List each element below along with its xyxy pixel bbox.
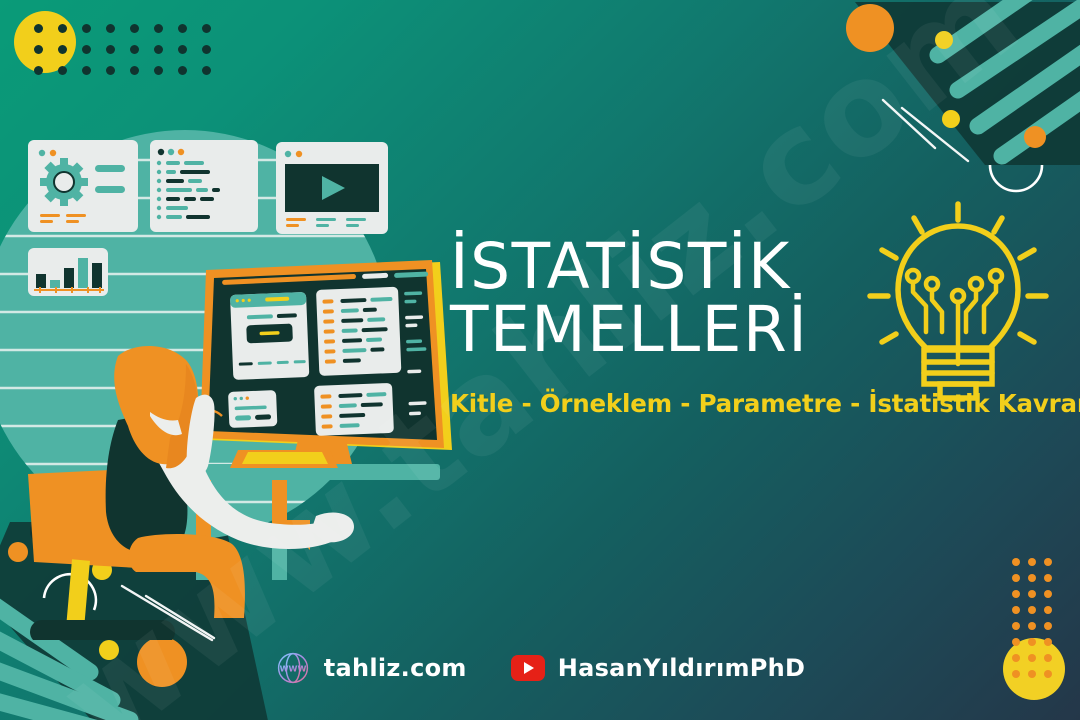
youtube-label: HasanYıldırımPhD xyxy=(558,654,806,682)
youtube-link[interactable]: HasanYıldırımPhD xyxy=(511,654,806,682)
bar-chart-card xyxy=(28,248,108,296)
globe-www-icon: WWW xyxy=(275,650,311,686)
orange-dot xyxy=(1024,126,1046,148)
footer-bar: WWW tahliz.com HasanYıldırımPhD xyxy=(0,650,1080,686)
website-link[interactable]: WWW tahliz.com xyxy=(275,650,467,686)
monitor xyxy=(200,260,452,464)
woman-at-desk-illustration xyxy=(0,120,470,640)
video-player-card xyxy=(276,142,388,234)
website-label: tahliz.com xyxy=(324,654,467,682)
yellow-dot xyxy=(942,110,960,128)
settings-gear-card xyxy=(28,140,138,232)
lightbulb-circuit-icon xyxy=(858,196,1058,411)
seated-body xyxy=(129,534,245,618)
chair-base xyxy=(30,620,175,640)
top-left-dot-grid xyxy=(34,24,226,87)
top-right-decoration xyxy=(770,0,1080,210)
white-arc xyxy=(990,165,1042,191)
orange-circle xyxy=(846,4,894,52)
yellow-dot xyxy=(935,31,953,49)
code-editor-card xyxy=(150,140,258,232)
youtube-play-icon xyxy=(511,655,545,681)
svg-text:WWW: WWW xyxy=(279,664,306,674)
banner-canvas: www.tahliz.com İSTATİSTİK TEMELLERİ Kitl… xyxy=(0,0,1080,720)
